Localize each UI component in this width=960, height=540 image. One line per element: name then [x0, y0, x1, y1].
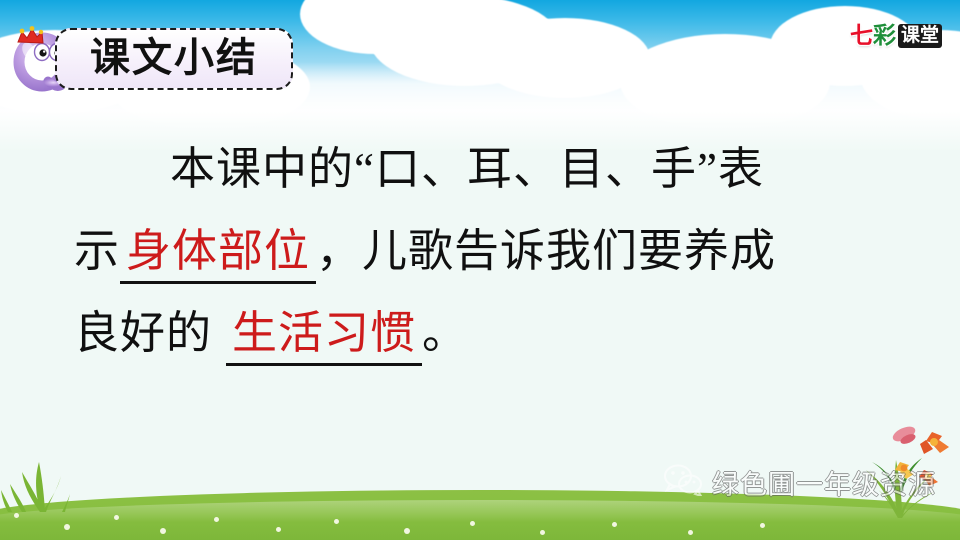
- line2-text-after: ，儿歌告诉我们要养成: [316, 226, 776, 276]
- line3-text-after: 。: [422, 308, 468, 358]
- line1-text: 本课中的“口、耳、目、手”表: [170, 144, 764, 194]
- wechat-icon: [663, 464, 703, 501]
- flower-dot: [760, 523, 765, 528]
- brand-char-2: 彩: [873, 25, 896, 48]
- brand-box-label: 课堂: [898, 24, 942, 48]
- flower-dot: [276, 527, 281, 532]
- summary-line-3: 良好的生活习惯。: [74, 292, 886, 374]
- flower-dot: [612, 522, 617, 527]
- flower-dot: [334, 519, 339, 524]
- watermark-text: 绿色圃一年级资源: [712, 463, 936, 502]
- flower-dot: [114, 515, 119, 520]
- summary-line-1: 本课中的“口、耳、目、手”表: [74, 128, 886, 210]
- summary-text-block: 本课中的“口、耳、目、手”表 示身体部位，儿歌告诉我们要养成 良好的生活习惯。: [74, 128, 886, 374]
- brand-char-1: 七: [850, 25, 873, 48]
- flower-dot: [540, 530, 545, 535]
- flower-dot: [160, 528, 166, 534]
- grass-tuft-left-icon: [0, 450, 80, 512]
- page-title: 课文小结: [90, 38, 258, 78]
- answer-blank-1[interactable]: 身体部位: [120, 223, 316, 284]
- section-title-banner: 课文小结: [55, 28, 293, 90]
- answer-blank-2[interactable]: 生活习惯: [226, 305, 422, 366]
- slide-canvas: 课文小结 七 彩 课堂 本课中的“口、耳、目、手”表 示身体部位，儿歌告诉我们要…: [0, 0, 960, 540]
- flower-dot: [688, 530, 693, 535]
- brand-logo: 七 彩 课堂: [824, 16, 942, 56]
- flower-dot: [64, 524, 70, 530]
- line2-text-before: 示: [74, 226, 120, 276]
- summary-line-2: 示身体部位，儿歌告诉我们要养成: [74, 210, 886, 292]
- flower-dot: [214, 517, 219, 522]
- flower-dot: [404, 528, 410, 534]
- flower-dot: [470, 521, 475, 526]
- flower-dot: [14, 513, 19, 518]
- line3-text-before: 良好的: [74, 308, 212, 358]
- watermark: 绿色圃一年级资源: [663, 463, 936, 502]
